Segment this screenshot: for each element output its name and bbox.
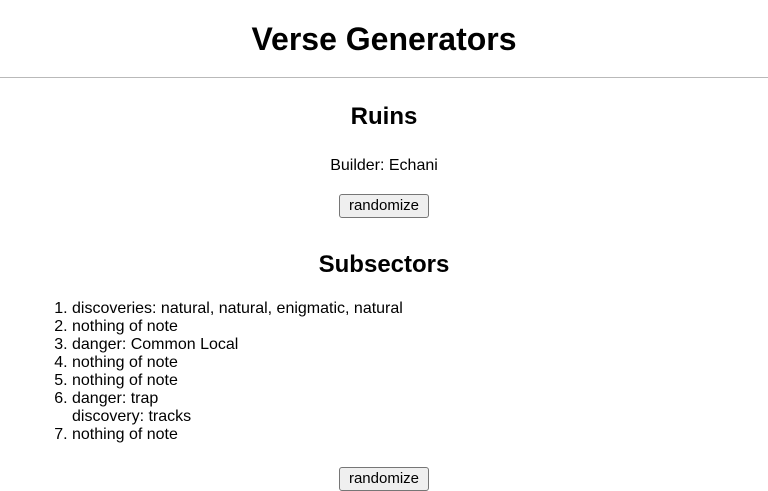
subsector-list-item: discoveries: natural, natural, enigmatic… (72, 300, 768, 318)
subsector-entry-line: nothing of note (72, 372, 768, 390)
page-title: Verse Generators (251, 23, 516, 55)
subsector-entry-line: discovery: tracks (72, 408, 768, 426)
ruins-builder-line: Builder: Echani (0, 131, 768, 175)
main-content: Ruins Builder: Echani randomize Subsecto… (0, 78, 768, 491)
subsector-list-item: danger: trapdiscovery: tracks (72, 390, 768, 426)
subsector-list-item: danger: Common Local (72, 336, 768, 354)
subsector-entry-line: nothing of note (72, 318, 768, 336)
subsectors-button-row: randomize (0, 444, 768, 491)
subsector-list-item: nothing of note (72, 354, 768, 372)
subsector-entry-line: nothing of note (72, 426, 768, 444)
ruins-button-row: randomize (0, 175, 768, 218)
subsector-list-item: nothing of note (72, 426, 768, 444)
subsector-list-item: nothing of note (72, 318, 768, 336)
subsectors-section: Subsectors discoveries: natural, natural… (0, 218, 768, 491)
ruins-section: Ruins Builder: Echani randomize (0, 78, 768, 218)
subsector-entry-line: danger: trap (72, 390, 768, 408)
page-header: Verse Generators (0, 0, 768, 78)
subsector-entry-line: danger: Common Local (72, 336, 768, 354)
subsector-entry-line: discoveries: natural, natural, enigmatic… (72, 300, 768, 318)
subsector-entry-line: nothing of note (72, 354, 768, 372)
subsectors-heading: Subsectors (0, 251, 768, 279)
subsector-list-item: nothing of note (72, 372, 768, 390)
ruins-heading: Ruins (0, 103, 768, 131)
ruins-randomize-button[interactable]: randomize (339, 194, 429, 218)
subsector-list: discoveries: natural, natural, enigmatic… (0, 278, 768, 444)
subsectors-randomize-button[interactable]: randomize (339, 467, 429, 491)
